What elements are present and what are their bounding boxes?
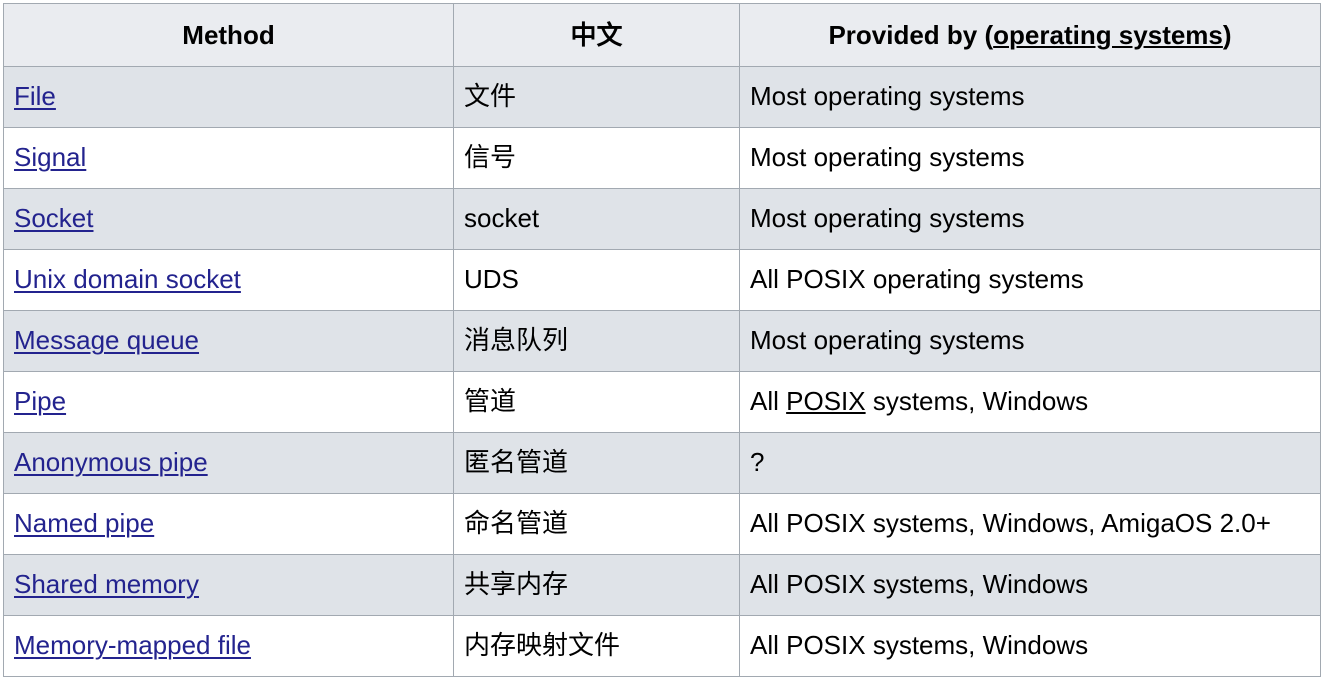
table-row: Pipe 管道 All POSIX systems, Windows [4,372,1321,433]
method-link-message-queue[interactable]: Message queue [14,325,199,355]
cell-method: Shared memory [4,555,454,616]
method-link-named-pipe[interactable]: Named pipe [14,508,154,538]
table-container: Method 中文 Provided by (operating systems… [0,0,1331,677]
cell-provided-by: All POSIX systems, Windows [740,616,1321,677]
table-row: Named pipe 命名管道 All POSIX systems, Windo… [4,494,1321,555]
cell-chinese: UDS [454,250,740,311]
cell-chinese: 共享内存 [454,555,740,616]
method-link-shared-memory[interactable]: Shared memory [14,569,199,599]
cell-provided-by: All POSIX systems, Windows [740,555,1321,616]
cell-method: Pipe [4,372,454,433]
table-header: Method 中文 Provided by (operating systems… [4,4,1321,67]
table-row: File 文件 Most operating systems [4,67,1321,128]
provided-suffix: systems, Windows [866,386,1089,416]
table-row: Memory-mapped file 内存映射文件 All POSIX syst… [4,616,1321,677]
cell-method: File [4,67,454,128]
cell-chinese: 信号 [454,128,740,189]
cell-chinese: 管道 [454,372,740,433]
cell-method: Message queue [4,311,454,372]
cell-chinese: 内存映射文件 [454,616,740,677]
cell-chinese: 消息队列 [454,311,740,372]
cell-provided-by: Most operating systems [740,189,1321,250]
column-header-method: Method [4,4,454,67]
table-row: Anonymous pipe 匿名管道 ? [4,433,1321,494]
cell-method: Socket [4,189,454,250]
method-link-unix-domain-socket[interactable]: Unix domain socket [14,264,241,294]
provided-prefix: All [750,386,786,416]
cell-provided-by: All POSIX systems, Windows [740,372,1321,433]
cell-method: Signal [4,128,454,189]
cell-method: Unix domain socket [4,250,454,311]
cell-chinese: 匿名管道 [454,433,740,494]
column-header-chinese: 中文 [454,4,740,67]
header-row: Method 中文 Provided by (operating systems… [4,4,1321,67]
method-link-anonymous-pipe[interactable]: Anonymous pipe [14,447,208,477]
table-row: Shared memory 共享内存 All POSIX systems, Wi… [4,555,1321,616]
cell-provided-by: Most operating systems [740,67,1321,128]
method-link-socket[interactable]: Socket [14,203,94,233]
ipc-methods-table: Method 中文 Provided by (operating systems… [3,3,1321,677]
operating-systems-link[interactable]: operating systems [993,20,1223,50]
provided-by-suffix: ) [1223,20,1232,50]
method-link-memory-mapped-file[interactable]: Memory-mapped file [14,630,251,660]
posix-link[interactable]: POSIX [786,386,865,416]
cell-provided-by: All POSIX systems, Windows, AmigaOS 2.0+ [740,494,1321,555]
cell-provided-by: All POSIX operating systems [740,250,1321,311]
cell-method: Named pipe [4,494,454,555]
cell-provided-by: Most operating systems [740,311,1321,372]
cell-method: Anonymous pipe [4,433,454,494]
cell-chinese: socket [454,189,740,250]
table-body: File 文件 Most operating systems Signal 信号… [4,67,1321,677]
table-row: Socket socket Most operating systems [4,189,1321,250]
provided-by-prefix: Provided by ( [828,20,993,50]
cell-chinese: 文件 [454,67,740,128]
method-link-file[interactable]: File [14,81,56,111]
cell-method: Memory-mapped file [4,616,454,677]
table-row: Message queue 消息队列 Most operating system… [4,311,1321,372]
method-link-signal[interactable]: Signal [14,142,86,172]
cell-chinese: 命名管道 [454,494,740,555]
method-link-pipe[interactable]: Pipe [14,386,66,416]
cell-provided-by: ? [740,433,1321,494]
table-row: Signal 信号 Most operating systems [4,128,1321,189]
cell-provided-by: Most operating systems [740,128,1321,189]
column-header-provided-by: Provided by (operating systems) [740,4,1321,67]
table-row: Unix domain socket UDS All POSIX operati… [4,250,1321,311]
